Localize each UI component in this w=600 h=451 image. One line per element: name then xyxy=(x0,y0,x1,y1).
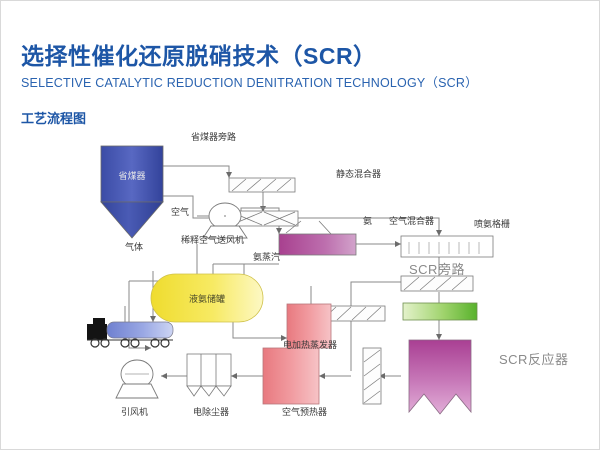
scr-reactor-shape xyxy=(409,340,471,414)
label-static-mixer: 静态混合器 xyxy=(336,167,381,180)
scr-bypass-damper xyxy=(401,276,473,291)
section-title: 工艺流程图 xyxy=(21,108,86,127)
electrostatic-precipitator-shape xyxy=(187,354,231,396)
label-ammonia: 氨 xyxy=(363,214,372,227)
catalyst-layer-shape xyxy=(403,303,477,320)
svg-text:省煤器: 省煤器 xyxy=(118,170,145,182)
label-scr-reactor-text: SCR反应器 xyxy=(499,352,568,367)
induced-draft-fan-shape xyxy=(116,360,158,398)
label-scr-reactor: SCR反应器 xyxy=(499,349,568,368)
label-scr-bypass-text: SCR旁路 xyxy=(409,262,465,277)
label-air-preheater: 空气预热器 xyxy=(282,405,327,418)
label-economizer-bypass: 省煤器旁路 xyxy=(191,130,236,143)
label-induced-draft-fan: 引风机 xyxy=(121,405,148,418)
page-title: 选择性催化还原脱硝技术（SCR） xyxy=(21,37,377,71)
label-ammonia-vapor: 氨蒸汽 xyxy=(253,250,280,263)
label-dilution-air-blower: 稀释空气送风机 xyxy=(181,233,244,246)
ammonia-injection-grid-shape xyxy=(401,236,493,257)
page-subtitle-english: SELECTIVE CATALYTIC REDUCTION DENITRATIO… xyxy=(21,72,478,91)
process-flow-diagram: 省煤器 xyxy=(1,126,600,451)
slide-page: 选择性催化还原脱硝技术（SCR） SELECTIVE CATALYTIC RED… xyxy=(0,0,600,450)
label-ammonia-injection-grid: 喷氨格栅 xyxy=(474,217,510,230)
economizer-bypass-damper xyxy=(229,178,295,192)
reactor-inlet-damper-vertical xyxy=(363,348,381,404)
liquid-ammonia-tank-shape: 液氨储罐 xyxy=(151,274,263,322)
ammonia-air-mixer-shape xyxy=(279,234,356,255)
label-gas: 气体 xyxy=(125,240,143,253)
label-ammonia-air-mixer: 空气混合器 xyxy=(389,214,434,227)
label-electrostatic-precipitator: 电除尘器 xyxy=(193,405,229,418)
label-air: 空气 xyxy=(171,205,189,218)
economizer-shape: 省煤器 xyxy=(101,146,163,238)
air-preheater-shape xyxy=(263,348,319,404)
svg-text:液氨储罐: 液氨储罐 xyxy=(189,293,225,305)
tanker-truck-shape xyxy=(87,318,173,347)
label-scr-bypass: SCR旁路 xyxy=(409,259,465,278)
label-electric-evaporator: 电加热蒸发器 xyxy=(283,338,337,351)
